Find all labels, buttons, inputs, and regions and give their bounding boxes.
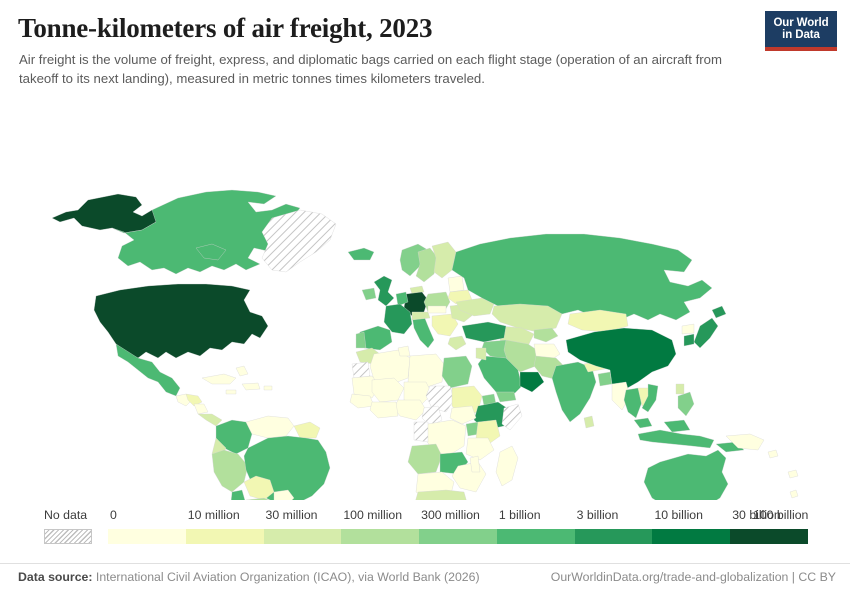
legend-bin-4[interactable] [419, 529, 497, 544]
chart-footer: Data source: International Civil Aviatio… [0, 563, 850, 588]
legend-tick-2: 30 million [266, 508, 318, 522]
country-czechia-slovakia[interactable] [428, 306, 446, 313]
country-jamaica[interactable] [226, 390, 236, 394]
legend-bin-8[interactable] [730, 529, 808, 544]
legend-bin-2[interactable] [264, 529, 342, 544]
legend-tick-6: 3 billion [577, 508, 619, 522]
legend-bin-1[interactable] [186, 529, 264, 544]
owid-logo-line1: Our World [773, 17, 828, 30]
map-legend: No data 010 million30 million100 million… [0, 508, 850, 556]
legend-no-data-label: No data [44, 508, 87, 522]
legend-tick-7: 10 billion [654, 508, 703, 522]
page-title: Tonne-kilometers of air freight, 2023 [18, 13, 432, 44]
legend-bin-6[interactable] [575, 529, 653, 544]
country-puerto-rico[interactable] [264, 386, 272, 390]
chart-subtitle: Air freight is the volume of freight, ex… [19, 51, 731, 88]
country-tunisia[interactable] [398, 346, 410, 356]
country-baltics[interactable] [448, 276, 464, 292]
legend-color-bar[interactable] [108, 529, 808, 544]
legend-tick-9: 100 billion [753, 508, 808, 522]
country-bangladesh[interactable] [598, 372, 612, 386]
legend-bin-0[interactable] [108, 529, 186, 544]
attribution-link[interactable]: OurWorldinData.org/trade-and-globalizati… [551, 570, 836, 584]
legend-tick-5: 1 billion [499, 508, 541, 522]
legend-tick-1: 10 million [188, 508, 240, 522]
world-choropleth-map[interactable] [0, 100, 850, 500]
map-svg [0, 100, 850, 500]
legend-bin-5[interactable] [497, 529, 575, 544]
owid-logo[interactable]: Our World in Data [765, 11, 837, 51]
data-source-text: International Civil Aviation Organizatio… [96, 570, 480, 584]
legend-tick-0: 0 [110, 508, 117, 522]
owid-logo-line2: in Data [782, 29, 820, 42]
legend-tick-3: 100 million [343, 508, 402, 522]
country-sri-lanka[interactable] [584, 416, 594, 428]
data-source: Data source: International Civil Aviatio… [18, 570, 480, 584]
legend-bin-7[interactable] [652, 529, 730, 544]
legend-no-data-swatch[interactable] [44, 529, 92, 544]
legend-bin-3[interactable] [341, 529, 419, 544]
legend-tick-4: 300 million [421, 508, 480, 522]
country-israel-jordan[interactable] [476, 348, 486, 360]
data-source-label: Data source: [18, 570, 93, 584]
country-south-korea[interactable] [684, 334, 694, 346]
country-western-sahara[interactable] [352, 362, 370, 378]
country-taiwan[interactable] [676, 384, 684, 394]
country-congo-gabon[interactable] [414, 422, 428, 442]
